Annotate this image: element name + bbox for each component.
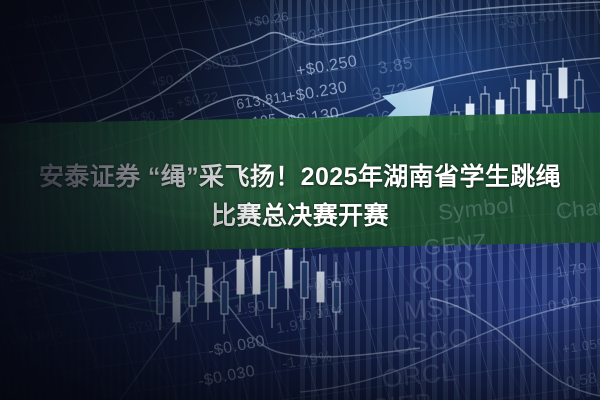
news-banner-image: +$0.26 +$0.33 +$0.39 +$0.28 +$0.22 +$0.1… [0, 0, 600, 400]
vignette-overlay [0, 0, 600, 400]
